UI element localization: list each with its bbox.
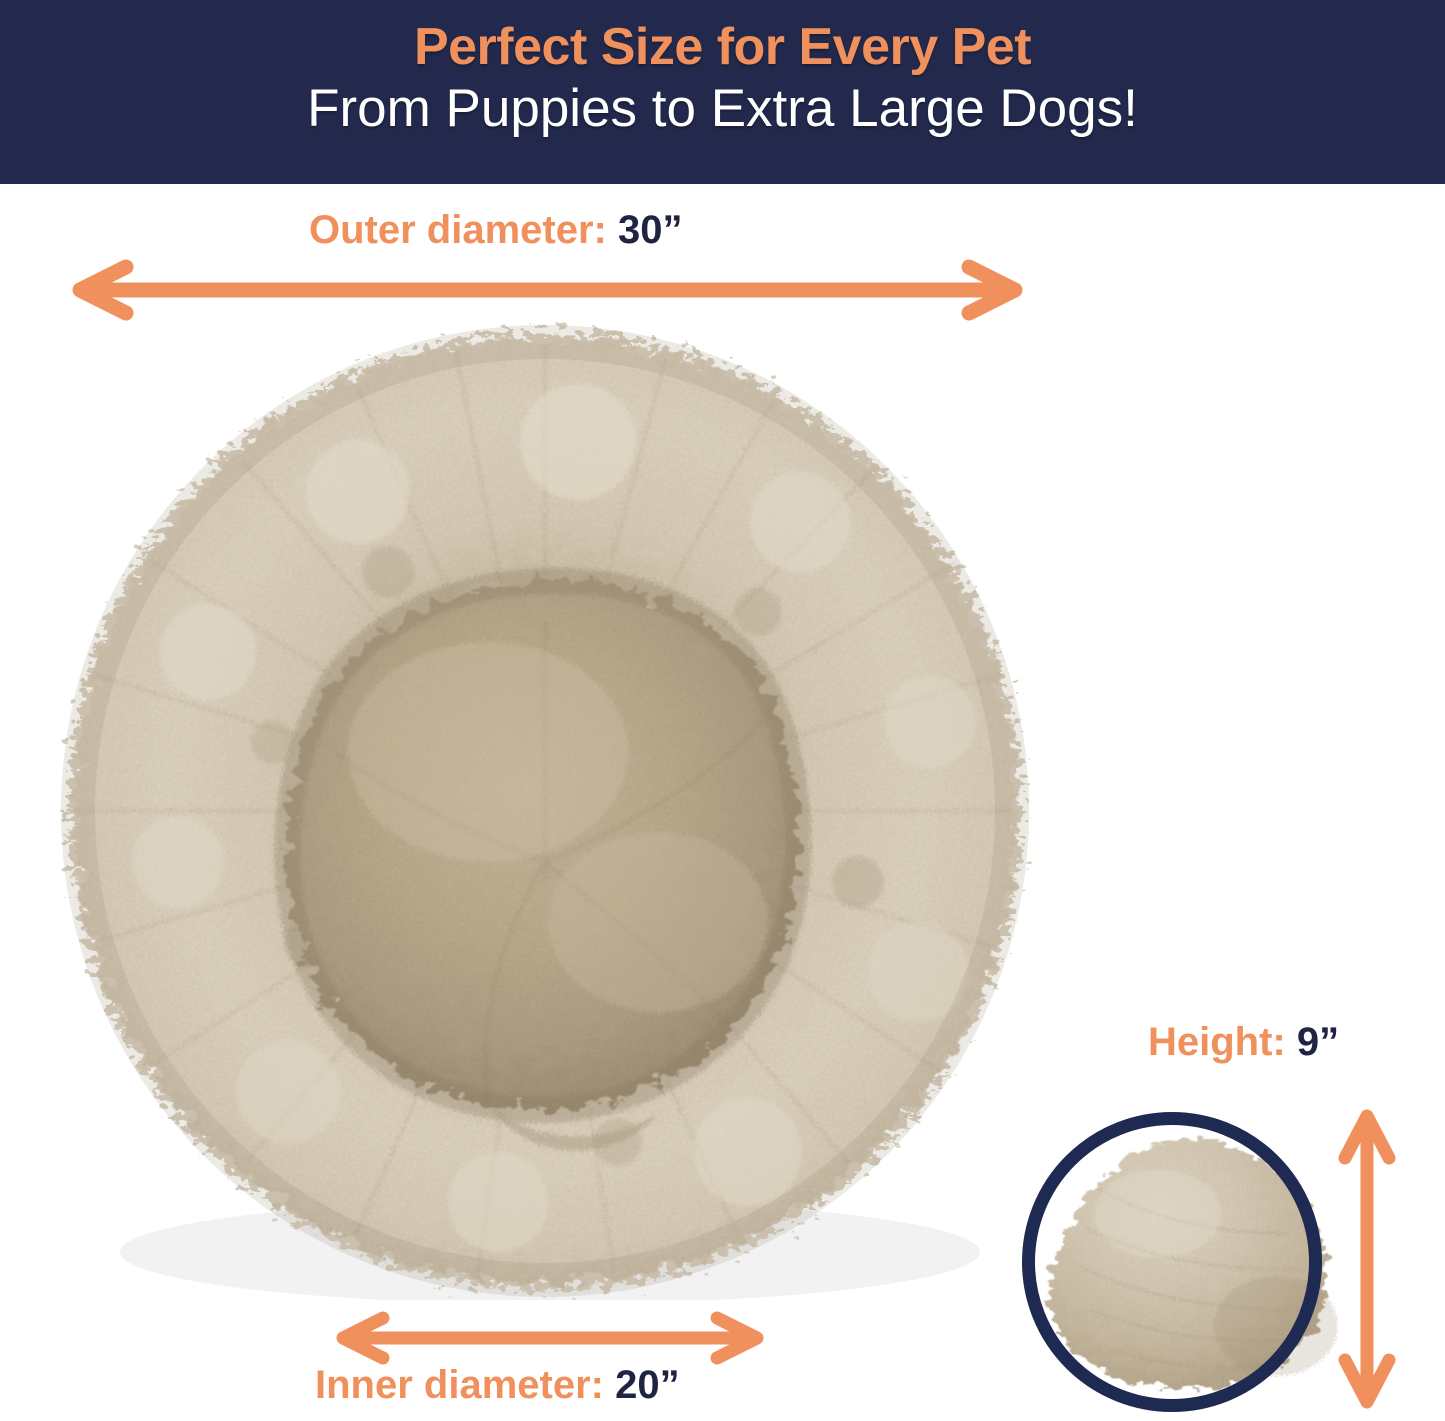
inner-diameter-arrow — [325, 1312, 775, 1364]
header-banner: Perfect Size for Every Pet From Puppies … — [0, 0, 1445, 184]
height-key: Height: — [1148, 1020, 1286, 1064]
banner-title: Perfect Size for Every Pet — [414, 20, 1031, 75]
outer-diameter-arrow — [60, 258, 1035, 322]
outer-diameter-label: Outer diameter: 30” — [309, 210, 682, 250]
infographic-canvas: Perfect Size for Every Pet From Puppies … — [0, 0, 1445, 1421]
inner-diameter-key: Inner diameter: — [315, 1363, 604, 1407]
inner-diameter-value: 20” — [615, 1363, 680, 1407]
pet-bed-top-view — [58, 322, 1033, 1300]
height-value: 9” — [1297, 1020, 1339, 1064]
outer-diameter-key: Outer diameter: — [309, 208, 607, 252]
banner-subtitle: From Puppies to Extra Large Dogs! — [307, 81, 1138, 137]
outer-diameter-value: 30” — [618, 208, 683, 252]
height-arrow — [1335, 1100, 1399, 1418]
height-inset-ring — [1022, 1112, 1322, 1412]
height-label: Height: 9” — [1148, 1022, 1339, 1062]
inner-diameter-label: Inner diameter: 20” — [315, 1365, 680, 1405]
